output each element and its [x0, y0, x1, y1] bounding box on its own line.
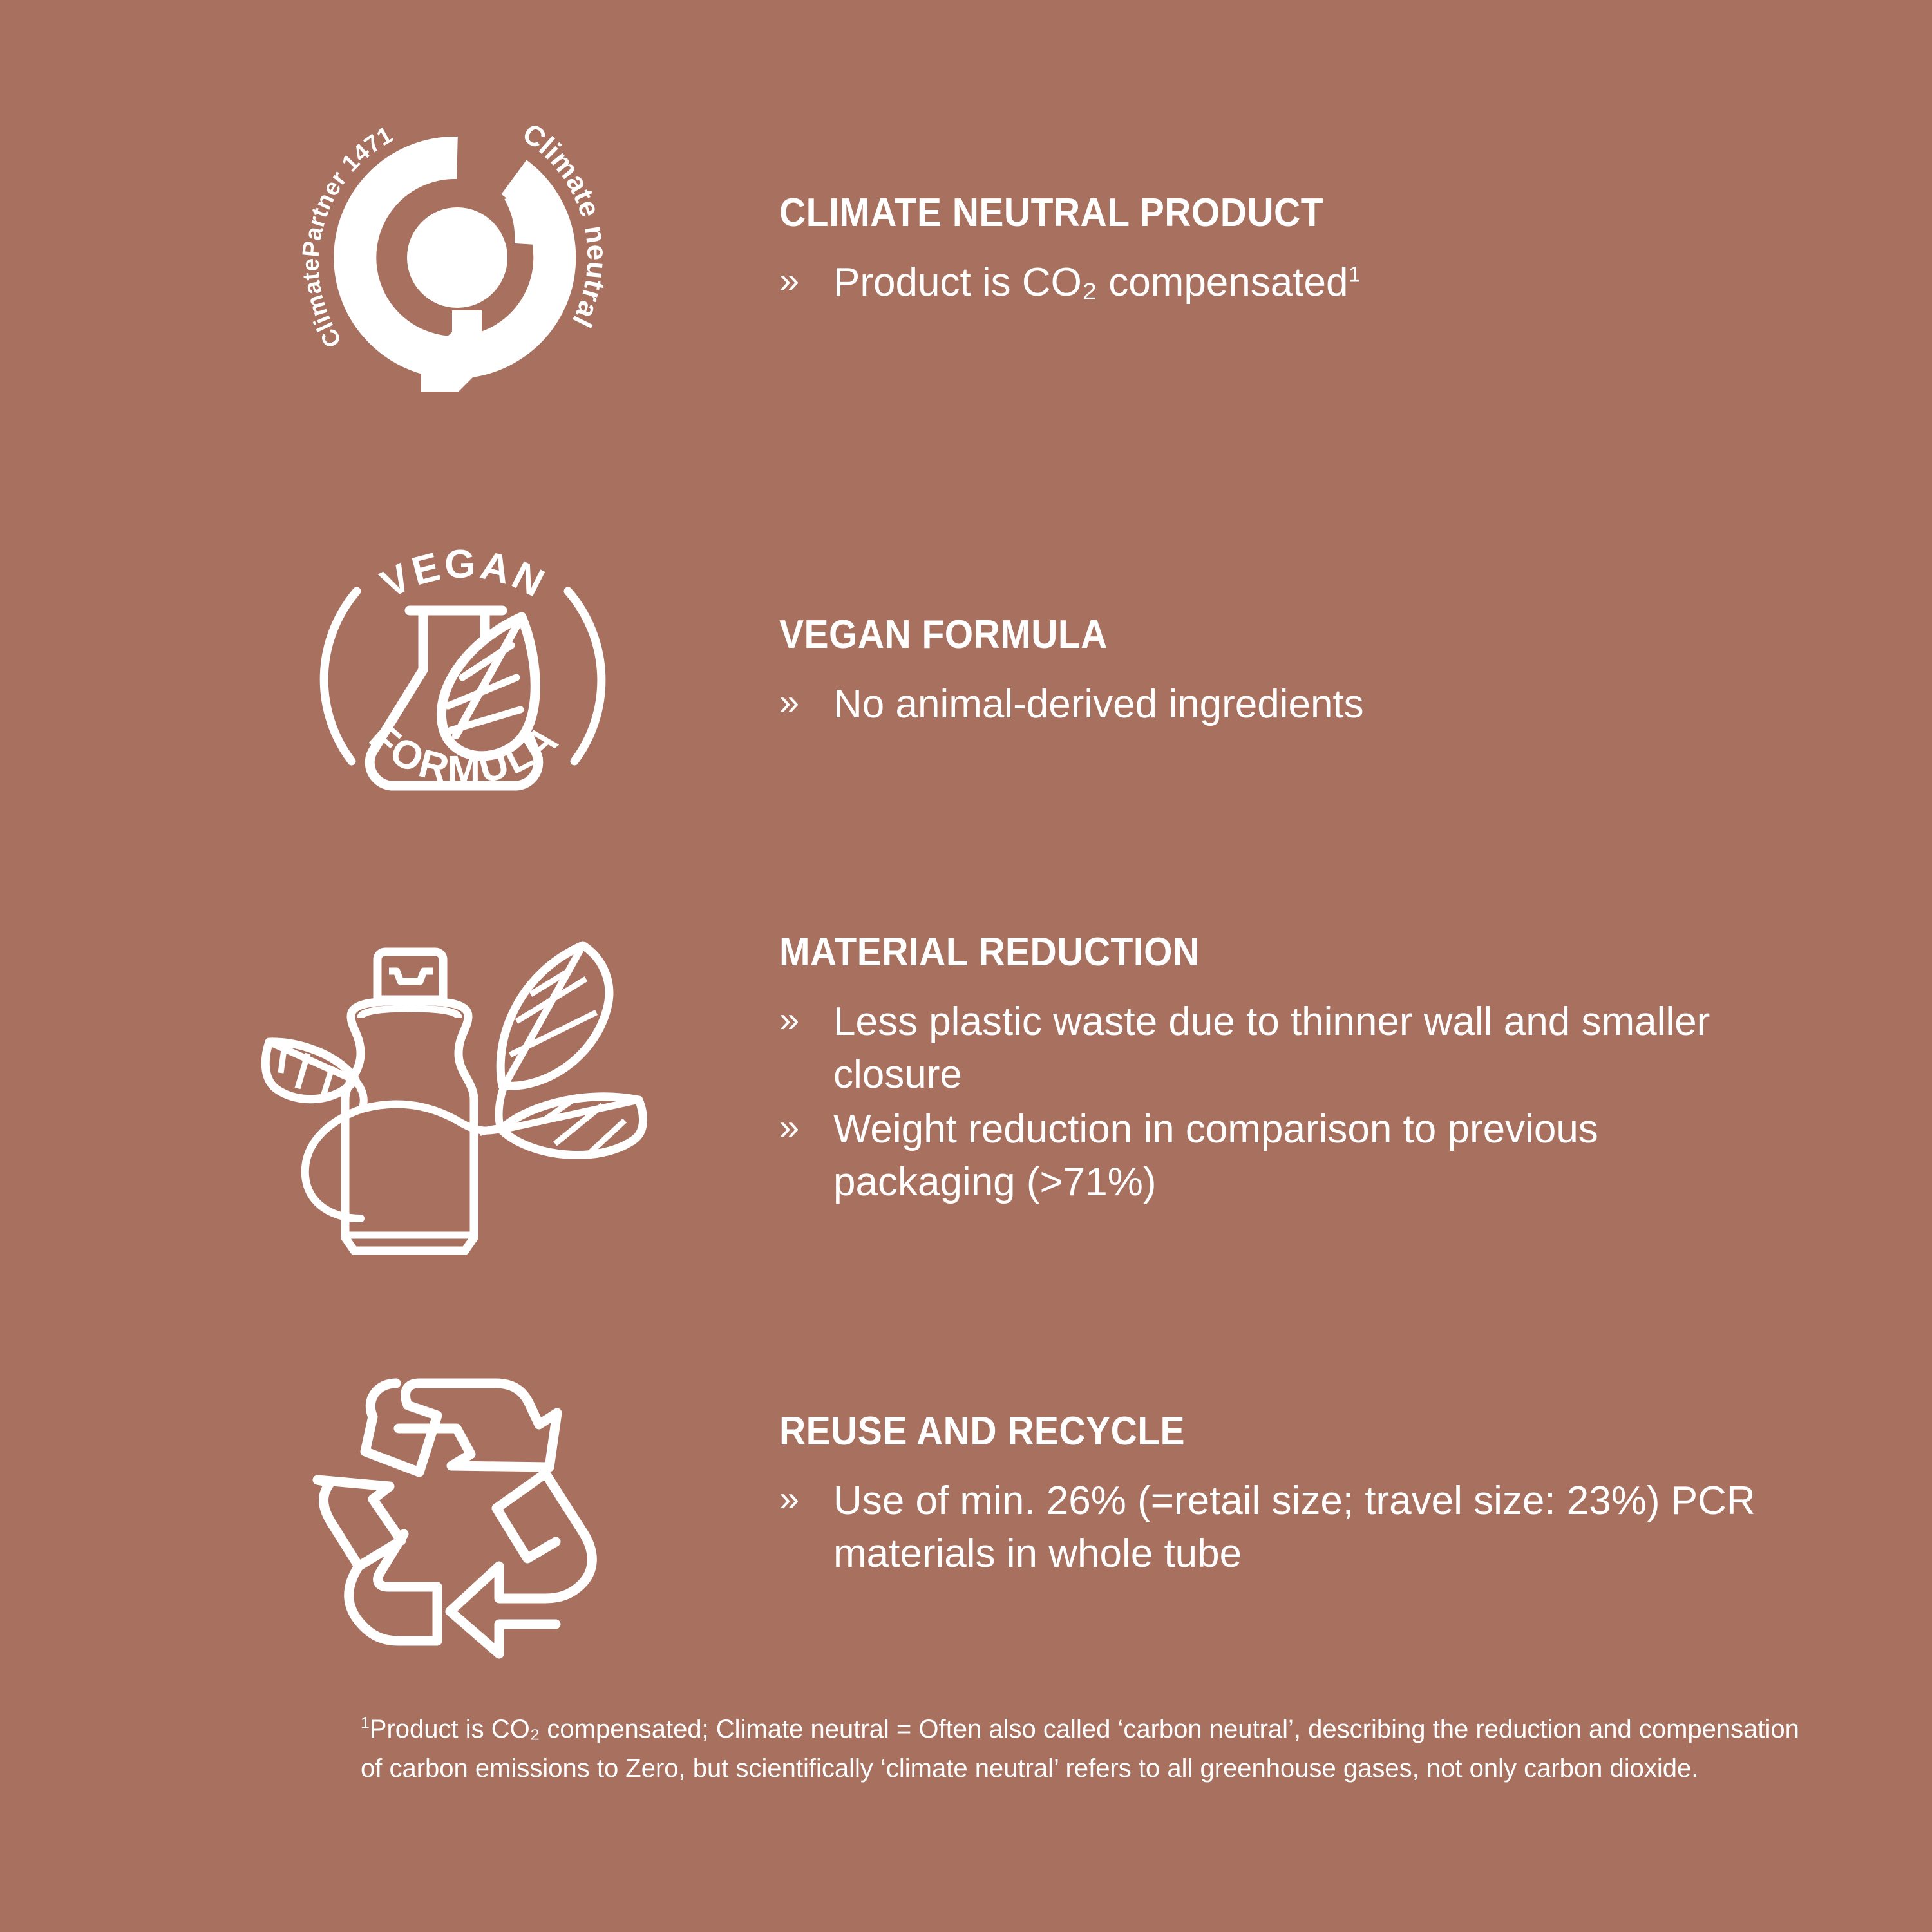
climate-neutral-text-block: CLIMATE NEUTRAL PRODUCT » Product is CO₂… — [779, 193, 1784, 309]
section-heading-climate-neutral: CLIMATE NEUTRAL PRODUCT — [779, 193, 1703, 233]
bullet-list-climate-neutral: » Product is CO₂ compensated1 — [779, 256, 1784, 309]
footnote-text: Product is CO₂ compensated; Climate neut… — [361, 1715, 1799, 1783]
bullet-marker-icon: » — [779, 256, 833, 304]
bullet-text: Product is CO₂ compensated1 — [833, 256, 1774, 309]
bullet-list-material-reduction: » Less plastic waste due to thinner wall… — [779, 996, 1784, 1209]
section-heading-material-reduction: MATERIAL REDUCTION — [779, 933, 1703, 972]
bullet-list-vegan-formula: » No animal-derived ingredients — [779, 678, 1784, 731]
vegan-arc-label: VEGAN — [374, 542, 553, 607]
bullet-item: » Weight reduction in comparison to prev… — [779, 1103, 1784, 1209]
footnote-reference: 1 — [1348, 262, 1360, 287]
material-reduction-text-block: MATERIAL REDUCTION » Less plastic waste … — [779, 933, 1784, 1209]
bullet-item: » No animal-derived ingredients — [779, 678, 1784, 731]
bullet-marker-icon: » — [779, 996, 833, 1043]
bullet-text: No animal-derived ingredients — [833, 678, 1774, 731]
bottle-with-leaves-icon — [258, 927, 670, 1294]
bullet-marker-icon: » — [779, 678, 833, 726]
footnote-marker: 1 — [361, 1715, 370, 1732]
bullet-text: Weight reduction in comparison to previo… — [833, 1103, 1774, 1209]
bullet-list-reuse-recycle: » Use of min. 26% (=retail size; travel … — [779, 1475, 1823, 1581]
footnote: 1Product is CO₂ compensated; Climate neu… — [361, 1710, 1810, 1788]
bullet-item: » Use of min. 26% (=retail size; travel … — [779, 1475, 1823, 1581]
vegan-formula-text-block: VEGAN FORMULA » No animal-derived ingred… — [779, 615, 1784, 731]
bullet-marker-icon: » — [779, 1103, 833, 1151]
material-reduction-icon-wrapper — [258, 927, 670, 1294]
vegan-formula-icon-wrapper: VEGAN FORMULA — [283, 502, 644, 850]
bullet-text: Less plastic waste due to thinner wall a… — [833, 996, 1774, 1102]
bullet-item: » Product is CO₂ compensated1 — [779, 256, 1784, 309]
bullet-item: » Less plastic waste due to thinner wall… — [779, 996, 1784, 1102]
reuse-recycle-text-block: REUSE AND RECYCLE » Use of min. 26% (=re… — [779, 1412, 1823, 1581]
section-heading-vegan-formula: VEGAN FORMULA — [779, 615, 1703, 655]
climatepartner-climate-neutral-seal-icon: ClimatePartner 14717-2005-1001 Climate n… — [283, 84, 631, 431]
reuse-recycle-icon-wrapper — [293, 1372, 660, 1700]
sustainability-claims-infographic: ClimatePartner 14717-2005-1001 Climate n… — [0, 0, 1932, 1932]
recycling-mobius-loop-icon — [293, 1372, 660, 1700]
section-heading-reuse-recycle: REUSE AND RECYCLE — [779, 1412, 1739, 1452]
vegan-formula-flask-leaf-icon: VEGAN FORMULA — [290, 509, 638, 844]
climate-neutral-icon-wrapper: ClimatePartner 14717-2005-1001 Climate n… — [277, 77, 638, 438]
bullet-text: Use of min. 26% (=retail size; travel si… — [833, 1475, 1823, 1581]
bullet-marker-icon: » — [779, 1475, 833, 1522]
